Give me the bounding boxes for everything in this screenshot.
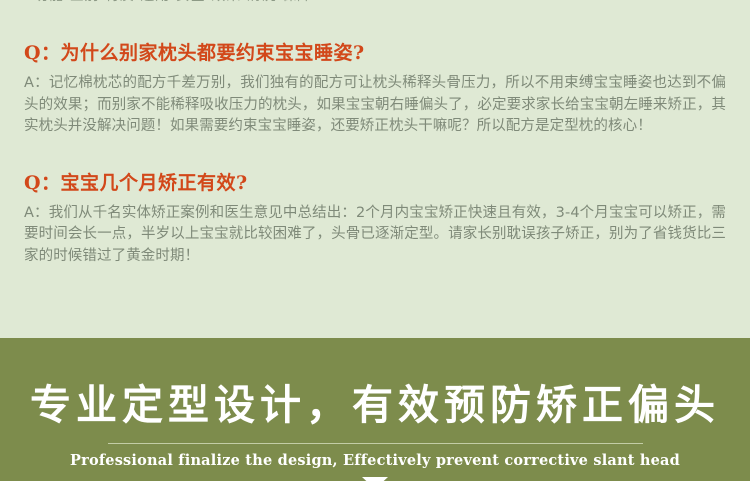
banner-arrow-container [0, 476, 750, 481]
banner-subtitle: Professional finalize the design, Effect… [0, 444, 750, 469]
faq-question-1: Q：为什么别家枕头都要约束宝宝睡姿? [24, 38, 726, 65]
faq-item-2: Q：宝宝几个月矫正有效? A：我们从千名实体矫正案例和医生意见中总结出：2个月内… [0, 138, 750, 268]
faq-section: Q：为什么别家枕头都要约束宝宝睡姿? A：记忆棉枕芯的配方千差万别，我们独有的配… [0, 14, 750, 338]
faq-answer-2: A：我们从千名实体矫正案例和医生意见中总结出：2个月内宝宝矫正快速且有效，3-4… [24, 203, 726, 268]
banner-headline: 专业定型设计，有效预防矫正偏头 [0, 338, 750, 430]
truncated-top-line-text: 功能 区别 材质 适用 安全 效果 清洗 保障 [0, 0, 750, 6]
faq-answer-1: A：记忆棉枕芯的配方千差万别，我们独有的配方可让枕头稀释头骨压力，所以不用束缚宝… [24, 73, 726, 138]
page-root: 功能 区别 材质 适用 安全 效果 清洗 保障 Q：为什么别家枕头都要约束宝宝睡… [0, 0, 750, 481]
faq-question-2: Q：宝宝几个月矫正有效? [24, 168, 726, 195]
promo-banner: 专业定型设计，有效预防矫正偏头 Professional finalize th… [0, 338, 750, 481]
faq-item-1: Q：为什么别家枕头都要约束宝宝睡姿? A：记忆棉枕芯的配方千差万别，我们独有的配… [0, 14, 750, 138]
truncated-top-line: 功能 区别 材质 适用 安全 效果 清洗 保障 [0, 0, 750, 8]
triangle-down-icon [362, 477, 388, 481]
